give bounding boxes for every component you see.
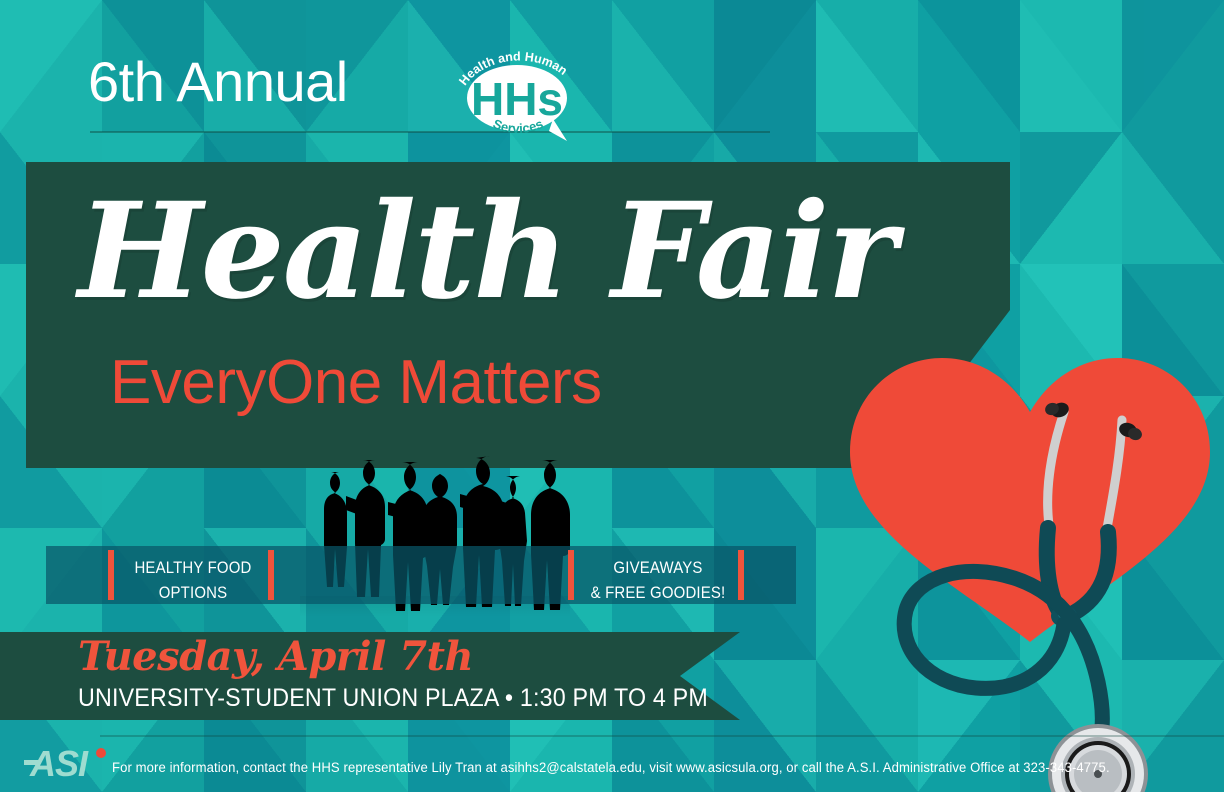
header-divider [90,131,770,133]
poster-title: Health Fair [78,186,895,318]
badge-healthy-food: HEALTHY FOOD OPTIONS [127,556,259,605]
footer-divider [100,735,1224,737]
badge-giveaways-line2: & FREE GOODIES! [591,583,726,602]
hhs-logo: HHs Health and Human Services [449,43,589,147]
hhs-monogram: HHs [471,73,563,125]
badge-separator-3 [568,550,574,600]
edition-label: 6th Annual [88,54,348,110]
badge-healthy-food-line1: HEALTHY FOOD [134,558,251,577]
footer-contact-text: For more information, contact the HHS re… [112,760,1110,775]
event-venue: UNIVERSITY-STUDENT UNION PLAZA • 1:30 PM… [78,684,708,713]
event-date: Tuesday, April 7th [78,637,473,677]
badge-giveaways-line1: GIVEAWAYS [613,558,702,577]
heart-stethoscope-graphic [836,336,1224,792]
poster-tagline: EveryOne Matters [110,352,602,414]
asi-wordmark: ASI [29,743,89,784]
badge-separator-4 [738,550,744,600]
badge-healthy-food-line2: OPTIONS [159,583,228,602]
badge-separator-2 [268,550,274,600]
asi-logo: ASI [24,740,112,786]
health-fair-poster: 6th Annual HHs Health and Human Services… [0,0,1224,792]
badge-separator-1 [108,550,114,600]
badge-giveaways: GIVEAWAYS & FREE GOODIES! [588,556,729,605]
